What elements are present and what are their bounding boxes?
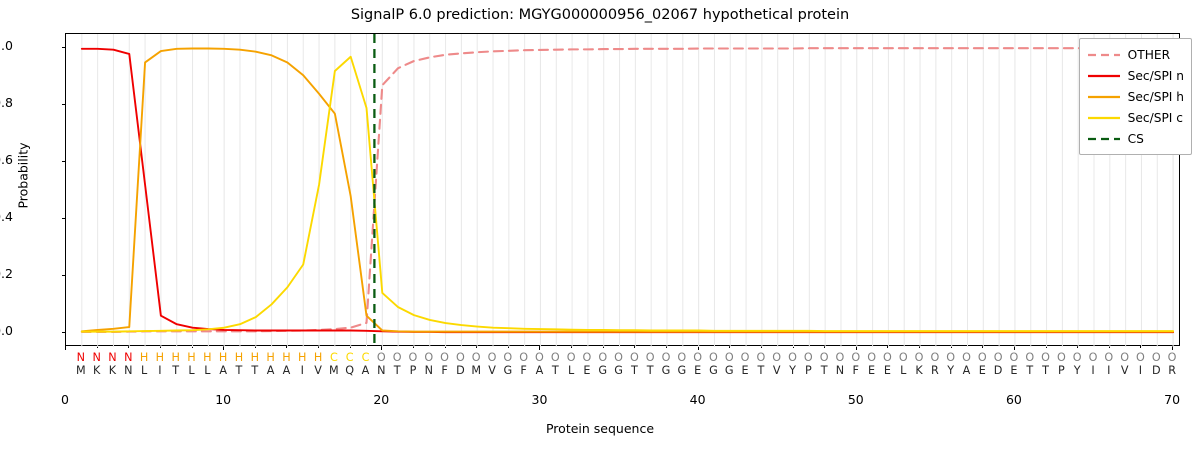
residue-column: OE bbox=[879, 351, 895, 377]
residue-column: ON bbox=[421, 351, 437, 377]
residue-column: ON bbox=[832, 351, 848, 377]
residue-region-label: O bbox=[658, 351, 674, 364]
y-tick-label: 0.6 bbox=[0, 155, 13, 165]
residue-letter: N bbox=[421, 364, 437, 377]
residue-letter: K bbox=[89, 364, 105, 377]
residue-column: OG bbox=[500, 351, 516, 377]
residue-column: OG bbox=[705, 351, 721, 377]
residue-region-label: O bbox=[943, 351, 959, 364]
residue-column: OE bbox=[737, 351, 753, 377]
residue-letter: T bbox=[642, 364, 658, 377]
residue-letter: Y bbox=[785, 364, 801, 377]
residue-region-label: O bbox=[816, 351, 832, 364]
residue-column: OF bbox=[848, 351, 864, 377]
legend-label: CS bbox=[1128, 132, 1144, 146]
residue-letter: A bbox=[278, 364, 294, 377]
residue-region-label: O bbox=[785, 351, 801, 364]
residue-region-label: O bbox=[500, 351, 516, 364]
residue-column: OE bbox=[1006, 351, 1022, 377]
residue-letter: V bbox=[769, 364, 785, 377]
y-tick-label: 0.4 bbox=[0, 212, 13, 222]
legend-label: Sec/SPI n bbox=[1128, 69, 1184, 83]
residue-region-label: H bbox=[136, 351, 152, 364]
residue-column: OT bbox=[642, 351, 658, 377]
legend-swatch bbox=[1087, 91, 1121, 103]
residue-column: OD bbox=[452, 351, 468, 377]
residue-region-label: O bbox=[1164, 351, 1180, 364]
residue-column: OP bbox=[405, 351, 421, 377]
residue-letter: T bbox=[547, 364, 563, 377]
residue-letter: M bbox=[468, 364, 484, 377]
residue-letter: T bbox=[168, 364, 184, 377]
residue-column: OT bbox=[816, 351, 832, 377]
residue-column: OE bbox=[579, 351, 595, 377]
plot-svg bbox=[66, 34, 1181, 347]
residue-column: HI bbox=[152, 351, 168, 377]
residue-letter: T bbox=[816, 364, 832, 377]
residue-letter: G bbox=[674, 364, 690, 377]
residue-column: OI bbox=[1132, 351, 1148, 377]
residue-letter: L bbox=[184, 364, 200, 377]
residue-column: OE bbox=[864, 351, 880, 377]
residue-letter: T bbox=[231, 364, 247, 377]
residue-region-label: O bbox=[373, 351, 389, 364]
residue-letter: N bbox=[120, 364, 136, 377]
residue-region-label: O bbox=[769, 351, 785, 364]
y-tick-label: 0.0 bbox=[0, 326, 13, 336]
residue-letter: K bbox=[911, 364, 927, 377]
residue-region-label: O bbox=[1006, 351, 1022, 364]
residue-column: OT bbox=[547, 351, 563, 377]
residue-column: OG bbox=[611, 351, 627, 377]
residue-letter: D bbox=[990, 364, 1006, 377]
residue-column: OI bbox=[1101, 351, 1117, 377]
residue-region-label: O bbox=[452, 351, 468, 364]
residue-letter: E bbox=[974, 364, 990, 377]
residue-region-label: O bbox=[864, 351, 880, 364]
legend-label: Sec/SPI c bbox=[1128, 111, 1183, 125]
residue-letter: A bbox=[531, 364, 547, 377]
residue-region-label: O bbox=[674, 351, 690, 364]
residue-region-label: O bbox=[1148, 351, 1164, 364]
legend-swatch bbox=[1087, 112, 1121, 124]
residue-region-label: O bbox=[690, 351, 706, 364]
residue-letter: E bbox=[864, 364, 880, 377]
residue-letter: Y bbox=[943, 364, 959, 377]
residue-letter: V bbox=[1117, 364, 1133, 377]
residue-region-label: O bbox=[421, 351, 437, 364]
residue-region-label: O bbox=[1069, 351, 1085, 364]
residue-letter: A bbox=[958, 364, 974, 377]
x-tick-label: 10 bbox=[193, 392, 253, 407]
residue-column: OP bbox=[1053, 351, 1069, 377]
residue-letter: G bbox=[595, 364, 611, 377]
residue-column: NK bbox=[89, 351, 105, 377]
x-tick-label: 70 bbox=[1142, 392, 1200, 407]
residue-letter: I bbox=[1101, 364, 1117, 377]
residue-letter: A bbox=[263, 364, 279, 377]
legend: OTHERSec/SPI nSec/SPI hSec/SPI cCS bbox=[1079, 38, 1192, 155]
residue-column: OA bbox=[958, 351, 974, 377]
residue-column: OV bbox=[484, 351, 500, 377]
residue-letter: L bbox=[199, 364, 215, 377]
legend-item[interactable]: Sec/SPI c bbox=[1087, 107, 1184, 128]
residue-column: HI bbox=[294, 351, 310, 377]
legend-swatch bbox=[1087, 49, 1121, 61]
residue-column: OE bbox=[974, 351, 990, 377]
residue-column: HA bbox=[215, 351, 231, 377]
residue-region-label: C bbox=[357, 351, 373, 364]
residue-column: OE bbox=[690, 351, 706, 377]
x-tick-label: 0 bbox=[35, 392, 95, 407]
residue-letter: F bbox=[437, 364, 453, 377]
residue-column: HT bbox=[168, 351, 184, 377]
residue-region-label: O bbox=[753, 351, 769, 364]
residue-region-label: O bbox=[721, 351, 737, 364]
x-tick-label: 20 bbox=[351, 392, 411, 407]
residue-column: NM bbox=[73, 351, 89, 377]
residue-letter: R bbox=[1164, 364, 1180, 377]
residue-letter: L bbox=[563, 364, 579, 377]
residue-column: HL bbox=[136, 351, 152, 377]
legend-swatch bbox=[1087, 133, 1121, 145]
residue-letter: Y bbox=[1069, 364, 1085, 377]
residue-letter: I bbox=[1132, 364, 1148, 377]
residue-column: HL bbox=[199, 351, 215, 377]
residue-region-label: H bbox=[231, 351, 247, 364]
residue-region-label: O bbox=[800, 351, 816, 364]
residue-column: OT bbox=[753, 351, 769, 377]
residue-column: OG bbox=[595, 351, 611, 377]
residue-region-label: O bbox=[1085, 351, 1101, 364]
residue-region-label: O bbox=[1101, 351, 1117, 364]
residue-region-label: O bbox=[958, 351, 974, 364]
residue-region-label: N bbox=[120, 351, 136, 364]
plot-area bbox=[65, 33, 1180, 346]
legend-swatch bbox=[1087, 70, 1121, 82]
x-axis-label: Protein sequence bbox=[0, 421, 1200, 436]
residue-letter: E bbox=[879, 364, 895, 377]
residue-column: CQ bbox=[342, 351, 358, 377]
residue-column: OT bbox=[626, 351, 642, 377]
residue-column: HL bbox=[184, 351, 200, 377]
residue-letter: G bbox=[705, 364, 721, 377]
residue-region-label: O bbox=[468, 351, 484, 364]
residue-region-label: O bbox=[516, 351, 532, 364]
residue-region-label: O bbox=[832, 351, 848, 364]
residue-letter: F bbox=[516, 364, 532, 377]
residue-column: OL bbox=[563, 351, 579, 377]
residue-letter: T bbox=[626, 364, 642, 377]
x-tick-label: 60 bbox=[984, 392, 1044, 407]
residue-column: OM bbox=[468, 351, 484, 377]
residue-column: OV bbox=[1117, 351, 1133, 377]
residue-column: HT bbox=[231, 351, 247, 377]
residue-column: NN bbox=[120, 351, 136, 377]
residue-region-label: C bbox=[326, 351, 342, 364]
residue-region-label: H bbox=[152, 351, 168, 364]
residue-letter: E bbox=[690, 364, 706, 377]
residue-column: OG bbox=[674, 351, 690, 377]
residue-letter: P bbox=[1053, 364, 1069, 377]
residue-column: HT bbox=[247, 351, 263, 377]
residue-letter: F bbox=[848, 364, 864, 377]
residue-letter: I bbox=[152, 364, 168, 377]
residue-region-label: O bbox=[642, 351, 658, 364]
residue-column: OT bbox=[1038, 351, 1054, 377]
residue-letter: V bbox=[310, 364, 326, 377]
residue-letter: G bbox=[721, 364, 737, 377]
residue-region-label: N bbox=[89, 351, 105, 364]
residue-region-label: O bbox=[1132, 351, 1148, 364]
residue-region-label: C bbox=[342, 351, 358, 364]
legend-label: Sec/SPI h bbox=[1128, 90, 1184, 104]
residue-column: OL bbox=[895, 351, 911, 377]
x-tick-label: 40 bbox=[668, 392, 728, 407]
residue-region-label: H bbox=[278, 351, 294, 364]
residue-letter: M bbox=[326, 364, 342, 377]
residue-column: OF bbox=[437, 351, 453, 377]
residue-column: OF bbox=[516, 351, 532, 377]
x-tick-label: 30 bbox=[509, 392, 569, 407]
residue-region-label: O bbox=[1022, 351, 1038, 364]
residue-region-label: O bbox=[927, 351, 943, 364]
residue-column: CA bbox=[357, 351, 373, 377]
residue-letter: R bbox=[927, 364, 943, 377]
residue-column: OT bbox=[389, 351, 405, 377]
residue-letter: T bbox=[753, 364, 769, 377]
residue-region-label: O bbox=[626, 351, 642, 364]
residue-letter: A bbox=[357, 364, 373, 377]
residue-region-label: O bbox=[579, 351, 595, 364]
residue-region-label: O bbox=[563, 351, 579, 364]
y-axis-label: Probability bbox=[16, 0, 31, 426]
residue-letter: K bbox=[104, 364, 120, 377]
residue-region-label: H bbox=[263, 351, 279, 364]
residue-letter: T bbox=[247, 364, 263, 377]
residue-region-label: O bbox=[595, 351, 611, 364]
residue-region-label: O bbox=[895, 351, 911, 364]
y-tick-label: 0.8 bbox=[0, 98, 13, 108]
residue-letter: E bbox=[1006, 364, 1022, 377]
residue-letter: P bbox=[405, 364, 421, 377]
residue-letter: M bbox=[73, 364, 89, 377]
residue-region-label: H bbox=[168, 351, 184, 364]
residue-letter: L bbox=[136, 364, 152, 377]
residue-region-label: O bbox=[389, 351, 405, 364]
residue-column: OY bbox=[1069, 351, 1085, 377]
residue-region-label: O bbox=[974, 351, 990, 364]
residue-region-label: O bbox=[737, 351, 753, 364]
residue-letter: E bbox=[579, 364, 595, 377]
residue-letter: N bbox=[832, 364, 848, 377]
residue-letter: N bbox=[373, 364, 389, 377]
y-tick-label: 1.0 bbox=[0, 41, 13, 51]
residue-column: OG bbox=[721, 351, 737, 377]
residue-letter: Q bbox=[342, 364, 358, 377]
residue-column: OD bbox=[990, 351, 1006, 377]
legend-item[interactable]: Sec/SPI n bbox=[1087, 65, 1184, 86]
residue-region-label: N bbox=[104, 351, 120, 364]
residue-region-label: O bbox=[911, 351, 927, 364]
residue-letter: T bbox=[1038, 364, 1054, 377]
residue-column: OY bbox=[943, 351, 959, 377]
residue-column: ON bbox=[373, 351, 389, 377]
signalp-prediction-figure: SignalP 6.0 prediction: MGYG000000956_02… bbox=[0, 0, 1200, 450]
residue-region-label: O bbox=[547, 351, 563, 364]
residue-region-label: H bbox=[294, 351, 310, 364]
series-line-other bbox=[82, 48, 1173, 332]
residue-letter: I bbox=[1085, 364, 1101, 377]
residue-column: OK bbox=[911, 351, 927, 377]
residue-region-label: H bbox=[199, 351, 215, 364]
residue-region-label: H bbox=[247, 351, 263, 364]
residue-letter: G bbox=[611, 364, 627, 377]
residue-letter: G bbox=[500, 364, 516, 377]
residue-region-label: H bbox=[310, 351, 326, 364]
residue-letter: D bbox=[452, 364, 468, 377]
legend-item[interactable]: CS bbox=[1087, 128, 1184, 149]
residue-letter: P bbox=[800, 364, 816, 377]
residue-region-label: H bbox=[215, 351, 231, 364]
residue-column: NK bbox=[104, 351, 120, 377]
series-line-sec-spi-n bbox=[82, 49, 1173, 332]
residue-region-label: H bbox=[184, 351, 200, 364]
y-tick-label: 0.2 bbox=[0, 269, 13, 279]
legend-item[interactable]: Sec/SPI h bbox=[1087, 86, 1184, 107]
residue-column: HA bbox=[278, 351, 294, 377]
residue-column: CM bbox=[326, 351, 342, 377]
residue-column: OI bbox=[1085, 351, 1101, 377]
residue-column: OG bbox=[658, 351, 674, 377]
residue-letter: I bbox=[294, 364, 310, 377]
residue-column: OP bbox=[800, 351, 816, 377]
legend-item[interactable]: OTHER bbox=[1087, 44, 1184, 65]
residue-column: HV bbox=[310, 351, 326, 377]
residue-column: OY bbox=[785, 351, 801, 377]
series-line-sec-spi-c bbox=[82, 57, 1173, 332]
residue-column: OR bbox=[1164, 351, 1180, 377]
residue-region-label: O bbox=[1117, 351, 1133, 364]
x-tick-label: 50 bbox=[826, 392, 886, 407]
residue-column: OA bbox=[531, 351, 547, 377]
residue-letter: T bbox=[389, 364, 405, 377]
residue-letter: A bbox=[215, 364, 231, 377]
residue-column: OD bbox=[1148, 351, 1164, 377]
residue-region-label: O bbox=[879, 351, 895, 364]
page-title: SignalP 6.0 prediction: MGYG000000956_02… bbox=[0, 7, 1200, 23]
series-line-sec-spi-h bbox=[82, 49, 1173, 332]
residue-letter: V bbox=[484, 364, 500, 377]
residue-letter: G bbox=[658, 364, 674, 377]
residue-column: OR bbox=[927, 351, 943, 377]
residue-column: OT bbox=[1022, 351, 1038, 377]
residue-letter: T bbox=[1022, 364, 1038, 377]
residue-region-label: O bbox=[437, 351, 453, 364]
residue-region-label: O bbox=[405, 351, 421, 364]
residue-letter: L bbox=[895, 364, 911, 377]
residue-region-label: O bbox=[705, 351, 721, 364]
residue-region-label: O bbox=[531, 351, 547, 364]
residue-region-label: O bbox=[484, 351, 500, 364]
residue-column: OV bbox=[769, 351, 785, 377]
residue-region-label: N bbox=[73, 351, 89, 364]
legend-label: OTHER bbox=[1128, 48, 1170, 62]
residue-region-label: O bbox=[611, 351, 627, 364]
residue-column: HA bbox=[263, 351, 279, 377]
residue-letter: E bbox=[737, 364, 753, 377]
residue-letter: D bbox=[1148, 364, 1164, 377]
residue-region-label: O bbox=[1053, 351, 1069, 364]
residue-region-label: O bbox=[1038, 351, 1054, 364]
residue-region-label: O bbox=[990, 351, 1006, 364]
residue-region-label: O bbox=[848, 351, 864, 364]
